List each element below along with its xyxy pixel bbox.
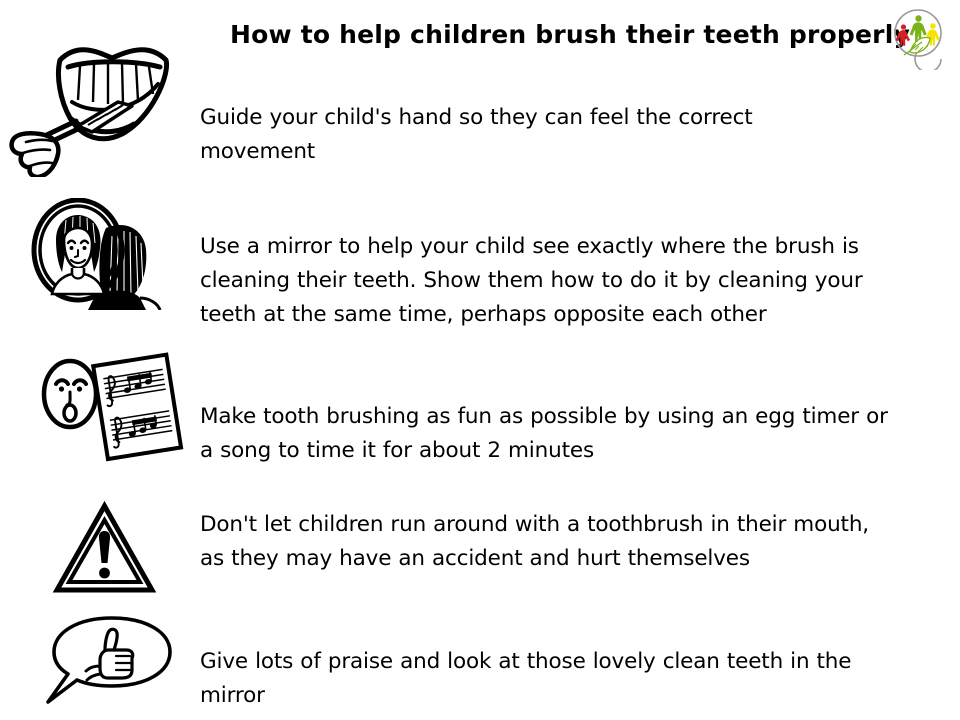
tip-text-1: Guide your child's hand so they can feel… xyxy=(200,101,865,169)
tip-text-3: Make tooth brushing as fun as possible b… xyxy=(200,400,900,468)
mouth-toothbrush-graphic xyxy=(2,22,202,177)
warning-triangle-graphic xyxy=(52,500,157,598)
tip-text-2: Use a mirror to help your child see exac… xyxy=(200,230,890,332)
thumbs-up-speech-bubble-graphic xyxy=(42,610,182,710)
logo-graphic xyxy=(888,6,954,70)
singing-face-sheet-music-graphic xyxy=(38,350,186,462)
child-mirror-icon xyxy=(28,198,173,310)
mouth-toothbrush-icon xyxy=(2,22,202,177)
tip-text-4: Don't let children run around with a too… xyxy=(200,508,880,576)
slide-canvas: How to help children brush their teeth p… xyxy=(0,0,960,720)
page-title: How to help children brush their teeth p… xyxy=(230,20,880,50)
thumbs-up-speech-bubble-icon xyxy=(42,610,182,710)
singing-face-sheet-music-icon xyxy=(38,350,186,462)
organisation-logo xyxy=(888,6,954,70)
tip-text-5: Give lots of praise and look at those lo… xyxy=(200,645,900,713)
warning-triangle-icon xyxy=(52,500,157,598)
child-mirror-graphic xyxy=(28,198,173,310)
